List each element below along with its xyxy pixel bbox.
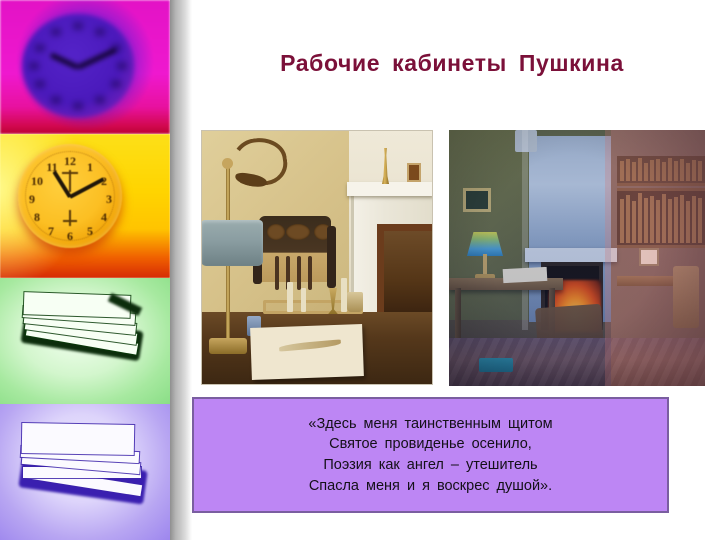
photo2-side-chair (673, 266, 699, 328)
page-title: Рабочие кабинеты Пушкина (192, 50, 712, 77)
photo2-small-frame (639, 248, 659, 266)
photo2-mantel (525, 248, 617, 262)
sidebar-image-clock-yellow: 12 1 2 3 4 5 6 7 8 9 10 11 (0, 134, 170, 278)
sidebar-gradient-strip (170, 0, 192, 540)
papers-violet-sheet-top (22, 423, 135, 455)
slide: 12 1 2 3 4 5 6 7 8 9 10 11 (0, 0, 720, 540)
sidebar-image-clock-magenta (0, 0, 170, 134)
clock-yellow-lower-bar (63, 220, 77, 222)
quote-line: «Здесь меня таинственным щитом (308, 414, 552, 435)
photo2-door-edge (522, 130, 528, 330)
photo1-candle (287, 282, 293, 312)
photo1-chair-medallion (286, 224, 310, 240)
photo1-candle (301, 288, 306, 312)
sidebar-image-papers-violet (0, 404, 170, 540)
photo2-books-lower (618, 193, 704, 243)
clock-yellow-face: 12 1 2 3 4 5 6 7 8 9 10 11 (18, 144, 122, 248)
quote-line: Святое провиденье осенило, (308, 434, 552, 455)
photo1-paper-sheet (250, 324, 364, 380)
photo2-side-table (617, 276, 679, 286)
photo1-small-picture-frame (407, 163, 421, 182)
clock-yellow-center-bar (62, 172, 78, 174)
photo1-firebox-inner (384, 231, 433, 313)
photo2-portrait-frame (463, 188, 491, 212)
quote-line: Спасла меня и я воскрес душой». (308, 476, 552, 497)
clock-yellow-center-tick-bottom (69, 210, 71, 226)
quote-textbox[interactable]: «Здесь меня таинственным щитом Святое пр… (192, 397, 669, 513)
photo2-bookshelf-lower (617, 188, 705, 248)
photo2-books-upper (618, 158, 704, 181)
photo2-desk-paper (503, 267, 548, 283)
photo-study-moika[interactable] (441, 130, 705, 386)
photo1-chair-spindles (275, 256, 315, 290)
photo1-lamp-base (209, 338, 247, 354)
photo-study-mikhailovskoye[interactable] (201, 130, 433, 385)
photo2-bookshelf-upper (617, 156, 705, 186)
photo1-chair-arm-right (327, 226, 336, 288)
clock-magenta-face (22, 14, 134, 118)
decorative-image-strip: 12 1 2 3 4 5 6 7 8 9 10 11 (0, 0, 170, 540)
sidebar-image-papers-green (0, 278, 170, 404)
photo1-lamp-finial (222, 158, 233, 169)
photo2-footstool (479, 358, 513, 372)
photo2-white-left-edge (441, 130, 449, 386)
photo1-firebox (377, 224, 433, 320)
photo1-lamp-shade (201, 220, 263, 266)
quote-line: Поэзия как ангел – утешитель (308, 455, 552, 476)
photo1-cup (347, 292, 363, 312)
photo1-chair-medallion (267, 224, 285, 240)
photo1-mantel (347, 182, 433, 196)
quote-text: «Здесь меня таинственным щитом Святое пр… (308, 414, 552, 496)
